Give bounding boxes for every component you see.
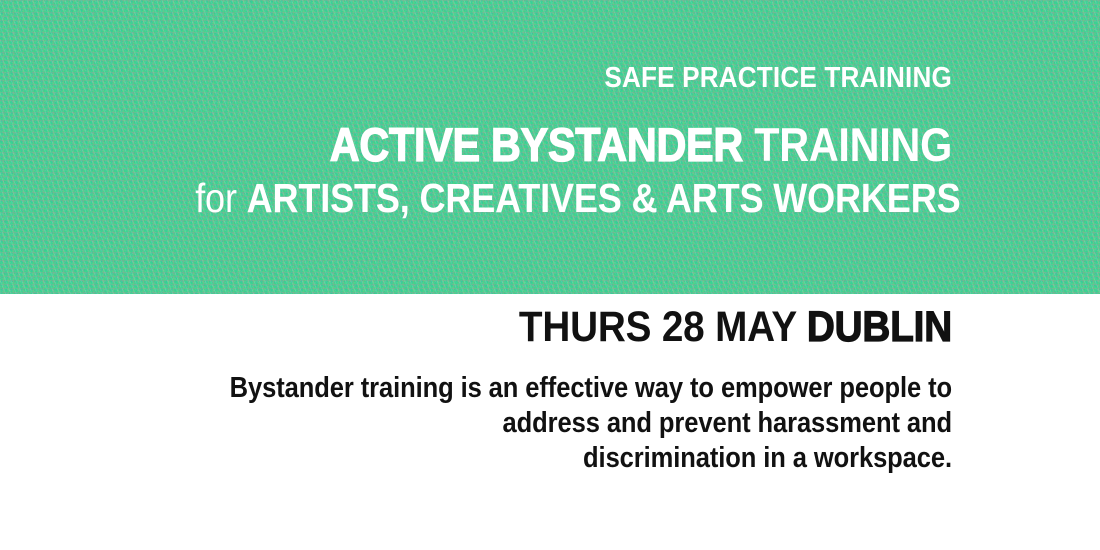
event-dateline: THURS 28 MAY DUBLIN	[178, 306, 952, 349]
description-line-1: Bystander training is an effective way t…	[195, 371, 952, 406]
event-date: THURS 28 MAY	[519, 303, 807, 351]
event-details-block: THURS 28 MAY DUBLIN Bystander training i…	[92, 306, 952, 476]
subhead-lead: for	[195, 175, 246, 221]
eyebrow-label: SAFE PRACTICE TRAINING	[178, 64, 952, 93]
promotional-banner: SAFE PRACTICE TRAINING ACTIVE BYSTANDER …	[0, 0, 1100, 550]
headline-rest: TRAINING	[743, 118, 952, 171]
description-line-2: address and prevent harassment and	[195, 406, 952, 441]
subhead-audience: ARTISTS, CREATIVES & ARTS WORKERS	[247, 175, 961, 221]
event-city: DUBLIN	[807, 303, 952, 351]
page-subtitle: for ARTISTS, CREATIVES & ARTS WORKERS	[195, 178, 952, 219]
headline-emphasis: ACTIVE BYSTANDER	[330, 118, 743, 171]
description-line-3: discrimination in a workspace.	[195, 441, 952, 476]
banner-text-block: SAFE PRACTICE TRAINING ACTIVE BYSTANDER …	[92, 64, 952, 219]
event-description: Bystander training is an effective way t…	[195, 371, 952, 476]
page-title: ACTIVE BYSTANDER TRAINING	[195, 121, 952, 168]
